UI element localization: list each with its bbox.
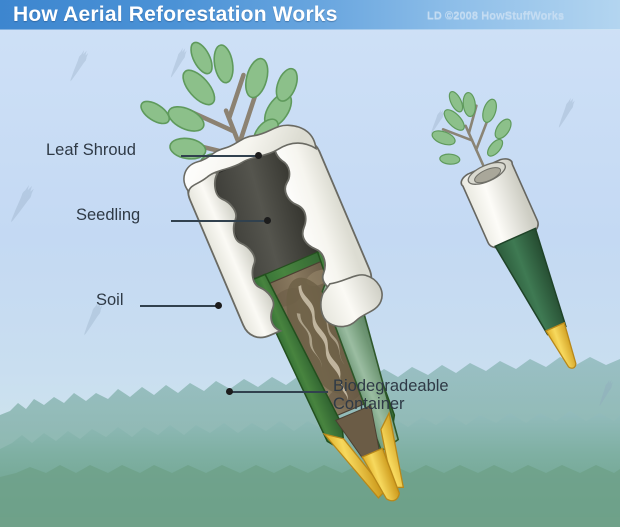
- label-biodegradeable-container: BiodegradeableContainer: [333, 377, 449, 414]
- leader-line-soil: [140, 305, 218, 307]
- page-title: How Aerial Reforestation Works: [13, 3, 338, 27]
- title-bar: How Aerial Reforestation Works LD ©2008 …: [0, 0, 620, 30]
- leader-line-biodegradeable-container: [232, 391, 328, 393]
- illustration-layer: [0, 0, 620, 527]
- label-leaf-shroud: Leaf Shroud: [46, 142, 136, 160]
- cutaway-seedling-dart: [121, 8, 469, 527]
- leader-dot-biodegradeable-container: [226, 388, 233, 395]
- leader-dot-seedling: [264, 217, 271, 224]
- reforestation-infographic: How Aerial Reforestation Works LD ©2008 …: [0, 0, 620, 527]
- label-biodegradeable-container-line1: Biodegradeable: [333, 377, 449, 395]
- label-seedling: Seedling: [76, 207, 140, 225]
- credit-line: LD ©2008 HowStuffWorks: [427, 10, 564, 22]
- intact-seedling-dart: [415, 73, 615, 383]
- label-biodegradeable-container-line2: Container: [333, 395, 449, 413]
- leader-line-seedling: [171, 220, 267, 222]
- leader-dot-soil: [215, 302, 222, 309]
- small-nose-tip: [546, 323, 583, 372]
- label-soil: Soil: [96, 292, 124, 310]
- leader-line-leaf-shroud: [181, 155, 257, 157]
- leader-dot-leaf-shroud: [255, 152, 262, 159]
